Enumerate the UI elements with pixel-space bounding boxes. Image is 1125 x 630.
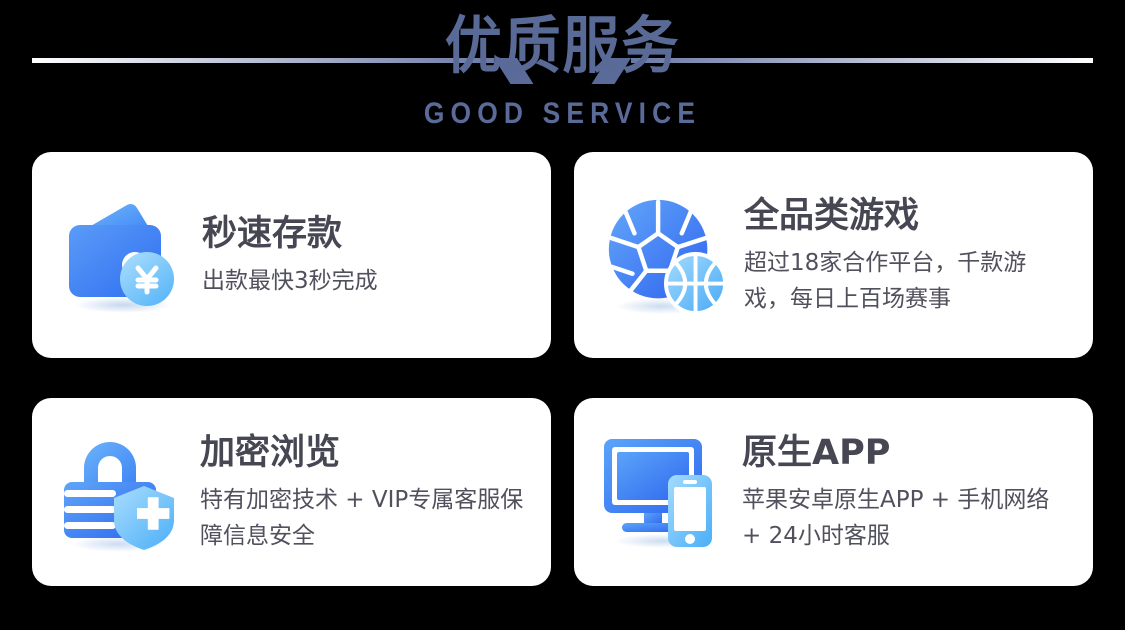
card-title: 原生APP [742, 430, 1079, 476]
card-title: 加密浏览 [200, 430, 537, 476]
header: 优质服务 GOOD SERVICE [0, 0, 1125, 148]
card-title: 秒速存款 [202, 211, 537, 257]
card-title: 全品类游戏 [744, 193, 1079, 239]
lock-shield-icon [58, 428, 186, 556]
wallet-yen-icon [58, 190, 188, 320]
card-text-block: 原生APP 苹果安卓原生APP + 手机网络 + 24小时客服 [728, 430, 1079, 554]
page-subtitle: GOOD SERVICE [68, 97, 1058, 131]
poster-root: 优质服务 GOOD SERVICE [0, 0, 1125, 630]
feature-card-native-app[interactable]: 原生APP 苹果安卓原生APP + 手机网络 + 24小时客服 [574, 398, 1093, 586]
feature-card-games[interactable]: 全品类游戏 超过18家合作平台，千款游戏，每日上百场赛事 [574, 152, 1093, 358]
feature-card-deposit[interactable]: 秒速存款 出款最快3秒完成 [32, 152, 551, 358]
feature-card-grid: 秒速存款 出款最快3秒完成 [32, 152, 1093, 586]
card-description: 特有加密技术 + VIP专属客服保障信息安全 [200, 482, 530, 554]
card-description: 苹果安卓原生APP + 手机网络 + 24小时客服 [742, 482, 1064, 554]
monitor-phone-icon [600, 428, 728, 556]
card-description: 超过18家合作平台，千款游戏，每日上百场赛事 [744, 245, 1066, 317]
header-title-wrap: 优质服务 [0, 6, 1125, 86]
card-text-block: 秒速存款 出款最快3秒完成 [188, 211, 537, 299]
feature-card-encryption[interactable]: 加密浏览 特有加密技术 + VIP专属客服保障信息安全 [32, 398, 551, 586]
soccer-basketball-icon [600, 190, 730, 320]
card-description: 出款最快3秒完成 [202, 263, 532, 299]
card-text-block: 全品类游戏 超过18家合作平台，千款游戏，每日上百场赛事 [730, 193, 1079, 317]
page-title: 优质服务 [45, 6, 1080, 86]
card-text-block: 加密浏览 特有加密技术 + VIP专属客服保障信息安全 [186, 430, 537, 554]
